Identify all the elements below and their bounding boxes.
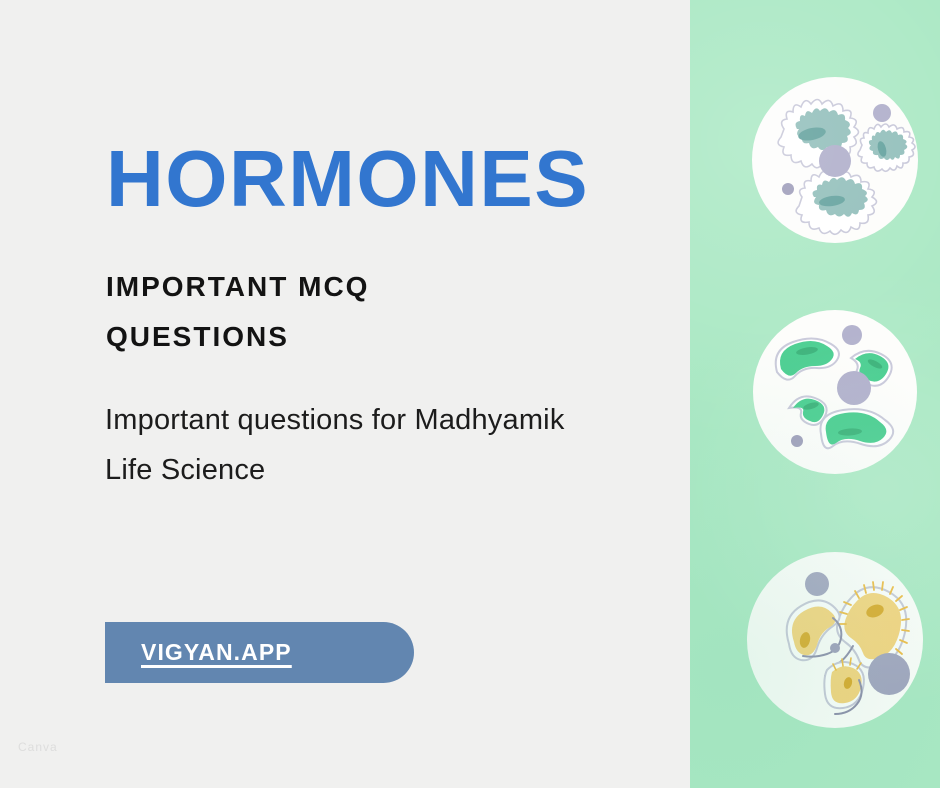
yellow-paramecia-illustration	[747, 552, 923, 728]
green-cell-bottom-right	[820, 409, 893, 448]
watermark: Canva	[18, 740, 58, 754]
green-dish-dot-top	[842, 325, 862, 345]
poster-canvas: HORMONES IMPORTANT MCQ QUESTIONS Importa…	[0, 0, 940, 788]
yellow-dish-dot-large-right	[868, 653, 910, 695]
green-bacilli-illustration	[753, 310, 917, 474]
yellow-cell-bottom	[824, 658, 864, 714]
petri-dish-yellow-paramecia	[747, 552, 923, 728]
yellow-dish-dot-top	[805, 572, 829, 596]
green-dish-dot-bottom-left	[791, 435, 803, 447]
petri-dish-teal-cells	[752, 77, 918, 243]
teal-cell-bottom	[796, 171, 876, 234]
illustration-panel	[690, 0, 940, 788]
vigyan-app-button[interactable]: VIGYAN.APP	[105, 622, 414, 683]
green-cell-upper-left	[776, 338, 839, 379]
petri-dish-green-bacilli	[753, 310, 917, 474]
teal-dish-dot-tiny-left	[782, 183, 794, 195]
yellow-dish-dot-tiny-center	[830, 643, 840, 653]
content-panel: HORMONES IMPORTANT MCQ QUESTIONS Importa…	[0, 0, 690, 788]
vigyan-app-button-label: VIGYAN.APP	[141, 639, 292, 666]
teal-cell-right	[858, 124, 915, 171]
teal-dish-dot-small-top	[873, 104, 891, 122]
page-title: HORMONES	[106, 139, 589, 219]
green-dish-dot-center	[837, 371, 871, 405]
description-text: Important questions for Madhyamik Life S…	[105, 396, 575, 496]
subtitle-heading: IMPORTANT MCQ QUESTIONS	[106, 262, 526, 362]
teal-cells-illustration	[752, 77, 918, 243]
green-cell-lower-left	[789, 396, 827, 425]
teal-dish-dot-large-center	[819, 145, 851, 177]
